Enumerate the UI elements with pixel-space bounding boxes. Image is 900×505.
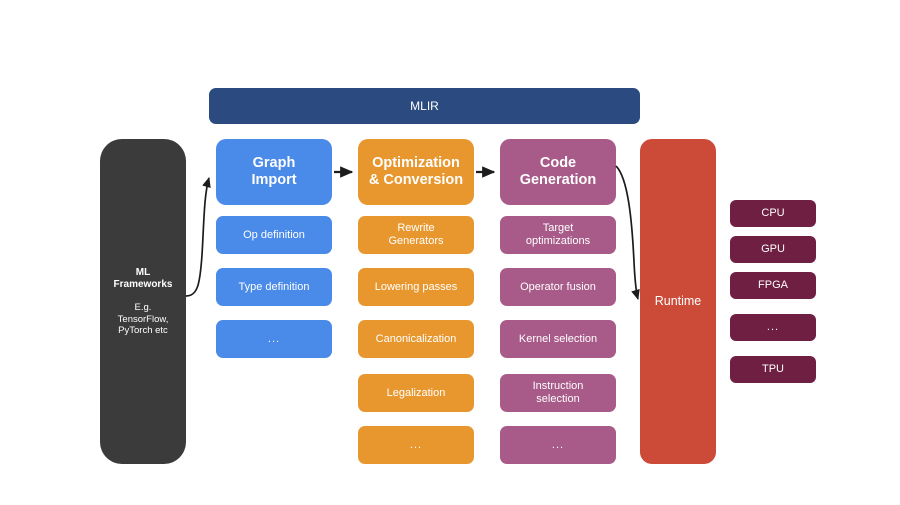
item-label: Instruction selection — [533, 380, 584, 406]
runtime-label: Runtime — [655, 294, 702, 309]
item-label: Canonicalization — [376, 333, 457, 346]
ml-frameworks-block[interactable]: ML Frameworks E.g. TensorFlow, PyTorch e… — [100, 139, 186, 464]
ml-frameworks-title: ML Frameworks — [114, 267, 173, 291]
hardware-target-more[interactable]: ... — [730, 314, 816, 341]
item-label: Target optimizations — [526, 222, 590, 248]
graph-import-item-type-definition[interactable]: Type definition — [216, 268, 332, 306]
arrow-code-generation-to-runtime — [616, 166, 638, 299]
item-label: ... — [268, 333, 280, 346]
column-header-label: Code Generation — [520, 155, 597, 189]
column-header-optimization-conversion[interactable]: Optimization & Conversion — [358, 139, 474, 205]
codegen-item-more[interactable]: ... — [500, 426, 616, 464]
optimization-item-legalization[interactable]: Legalization — [358, 374, 474, 412]
column-header-code-generation[interactable]: Code Generation — [500, 139, 616, 205]
codegen-item-instruction-selection[interactable]: Instruction selection — [500, 374, 616, 412]
item-label: ... — [410, 439, 422, 452]
runtime-block[interactable]: Runtime — [640, 139, 716, 464]
hardware-target-tpu[interactable]: TPU — [730, 356, 816, 383]
graph-import-item-op-definition[interactable]: Op definition — [216, 216, 332, 254]
mlir-banner-label: MLIR — [410, 99, 439, 113]
item-label: Operator fusion — [520, 281, 596, 294]
column-header-graph-import[interactable]: Graph Import — [216, 139, 332, 205]
item-label: CPU — [761, 207, 784, 220]
ml-frameworks-subtitle: E.g. TensorFlow, PyTorch etc — [118, 302, 169, 336]
codegen-item-kernel-selection[interactable]: Kernel selection — [500, 320, 616, 358]
diagram-canvas: ML Frameworks E.g. TensorFlow, PyTorch e… — [0, 0, 900, 505]
optimization-item-rewrite-generators[interactable]: Rewrite Generators — [358, 216, 474, 254]
item-label: ... — [552, 439, 564, 452]
column-header-label: Optimization & Conversion — [369, 155, 463, 189]
item-label: Op definition — [243, 229, 305, 242]
optimization-item-canonicalization[interactable]: Canonicalization — [358, 320, 474, 358]
hardware-target-fpga[interactable]: FPGA — [730, 272, 816, 299]
codegen-item-target-optimizations[interactable]: Target optimizations — [500, 216, 616, 254]
hardware-target-cpu[interactable]: CPU — [730, 200, 816, 227]
item-label: FPGA — [758, 279, 788, 292]
mlir-banner[interactable]: MLIR — [209, 88, 640, 124]
item-label: Rewrite Generators — [388, 222, 443, 248]
item-label: TPU — [762, 363, 784, 376]
item-label: Kernel selection — [519, 333, 597, 346]
hardware-target-gpu[interactable]: GPU — [730, 236, 816, 263]
optimization-item-more[interactable]: ... — [358, 426, 474, 464]
codegen-item-operator-fusion[interactable]: Operator fusion — [500, 268, 616, 306]
graph-import-item-more[interactable]: ... — [216, 320, 332, 358]
item-label: ... — [767, 321, 779, 334]
column-header-label: Graph Import — [251, 155, 296, 189]
item-label: Legalization — [387, 387, 446, 400]
item-label: Type definition — [239, 281, 310, 294]
optimization-item-lowering-passes[interactable]: Lowering passes — [358, 268, 474, 306]
item-label: Lowering passes — [375, 281, 458, 294]
arrow-frameworks-to-graph-import — [186, 178, 209, 296]
item-label: GPU — [761, 243, 785, 256]
